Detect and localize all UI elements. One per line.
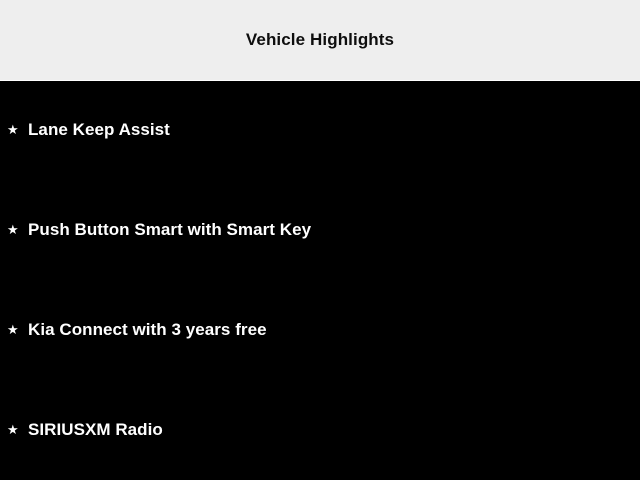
highlight-label: SIRIUSXM Radio <box>28 420 640 440</box>
star-icon: ★ <box>7 223 28 236</box>
page-title: Vehicle Highlights <box>246 30 394 50</box>
highlight-label: Kia Connect with 3 years free <box>28 320 640 340</box>
list-item: ★ Lane Keep Assist <box>0 110 640 150</box>
highlights-list: ★ Lane Keep Assist ★ Push Button Smart w… <box>0 81 640 480</box>
highlight-label: Lane Keep Assist <box>28 120 640 140</box>
list-item: ★ Push Button Smart with Smart Key <box>0 210 640 250</box>
star-icon: ★ <box>7 423 28 436</box>
star-icon: ★ <box>7 323 28 336</box>
list-item: ★ SIRIUSXM Radio <box>0 410 640 450</box>
list-item: ★ Kia Connect with 3 years free <box>0 310 640 350</box>
highlight-label: Push Button Smart with Smart Key <box>28 220 640 240</box>
star-icon: ★ <box>7 123 28 136</box>
panel-header: Vehicle Highlights <box>0 0 640 81</box>
highlights-body: ★ Lane Keep Assist ★ Push Button Smart w… <box>0 81 640 480</box>
vehicle-highlights-panel: Vehicle Highlights ★ Lane Keep Assist ★ … <box>0 0 640 480</box>
